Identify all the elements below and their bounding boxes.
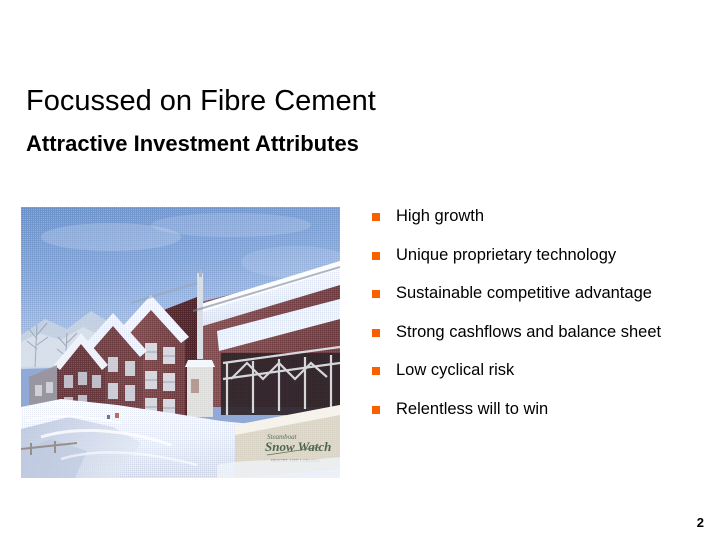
winter-lodge-photograph: Steamboat Snow Watch RESORT AND LODGING xyxy=(21,207,340,478)
list-item: High growth xyxy=(372,205,692,228)
list-item: Unique proprietary technology xyxy=(372,244,692,267)
square-bullet-icon xyxy=(372,406,380,414)
title-block: Focussed on Fibre Cement Attractive Inve… xyxy=(26,84,666,157)
list-item: Relentless will to win xyxy=(372,398,692,421)
square-bullet-icon xyxy=(372,213,380,221)
list-item-label: High growth xyxy=(396,207,484,225)
list-item: Strong cashflows and balance sheet xyxy=(372,321,692,344)
list-item-label: Sustainable competitive advantage xyxy=(396,284,652,302)
list-item: Low cyclical risk xyxy=(372,359,692,382)
square-bullet-icon xyxy=(372,329,380,337)
page-title: Focussed on Fibre Cement xyxy=(26,84,666,118)
square-bullet-icon xyxy=(372,252,380,260)
list-item-label: Unique proprietary technology xyxy=(396,246,616,264)
list-item: Sustainable competitive advantage xyxy=(372,282,692,305)
bullet-list: High growth Unique proprietary technolog… xyxy=(372,205,692,436)
square-bullet-icon xyxy=(372,367,380,375)
square-bullet-icon xyxy=(372,290,380,298)
page-subtitle: Attractive Investment Attributes xyxy=(26,131,666,157)
list-item-label: Relentless will to win xyxy=(396,400,548,418)
list-item-label: Low cyclical risk xyxy=(396,361,514,379)
slide-canvas: Focussed on Fibre Cement Attractive Inve… xyxy=(0,0,720,540)
page-number: 2 xyxy=(697,515,704,530)
list-item-label: Strong cashflows and balance sheet xyxy=(396,323,661,341)
